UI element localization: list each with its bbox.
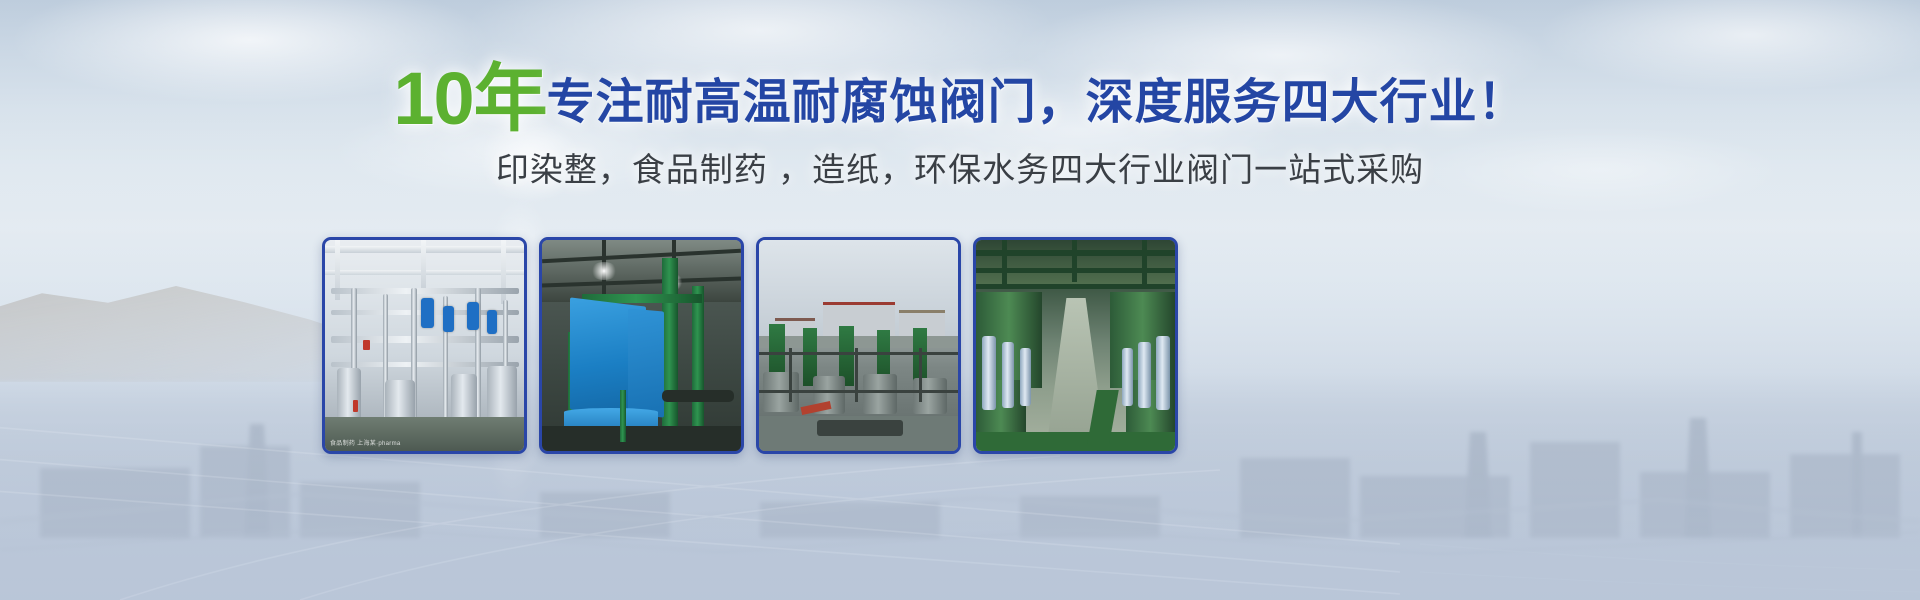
headline-main: 专注耐高温耐腐蚀阀门，深度服务四大行业！ bbox=[547, 76, 1527, 129]
gallery-card-textile-dyeing-line[interactable] bbox=[539, 237, 744, 454]
gallery-card-water-treatment-yard[interactable] bbox=[756, 237, 961, 454]
subheadline: 印染整，食品制药 ，造纸，环保水务四大行业阀门一站式采购 bbox=[0, 143, 1920, 191]
headline-years: 10年 bbox=[393, 57, 546, 140]
photo-pharma-process-skid: 食品制药 上海某·pharma bbox=[325, 240, 524, 451]
headline: 10年专注耐高温耐腐蚀阀门，深度服务四大行业！ bbox=[0, 62, 1920, 136]
gallery-card-pharma-process-skid[interactable]: 食品制药 上海某·pharma bbox=[322, 237, 527, 454]
photo-paper-mill-aisle bbox=[976, 240, 1175, 451]
promo-banner: 10年专注耐高温耐腐蚀阀门，深度服务四大行业！ 印染整，食品制药 ，造纸，环保水… bbox=[0, 0, 1920, 600]
industry-photo-gallery: 食品制药 上海某·pharma bbox=[322, 237, 1178, 454]
photo-water-treatment-yard bbox=[759, 240, 958, 451]
gallery-card-paper-mill-aisle[interactable] bbox=[973, 237, 1178, 454]
photo-textile-dyeing-line bbox=[542, 240, 741, 451]
photo-credit: 食品制药 上海某·pharma bbox=[330, 438, 401, 447]
